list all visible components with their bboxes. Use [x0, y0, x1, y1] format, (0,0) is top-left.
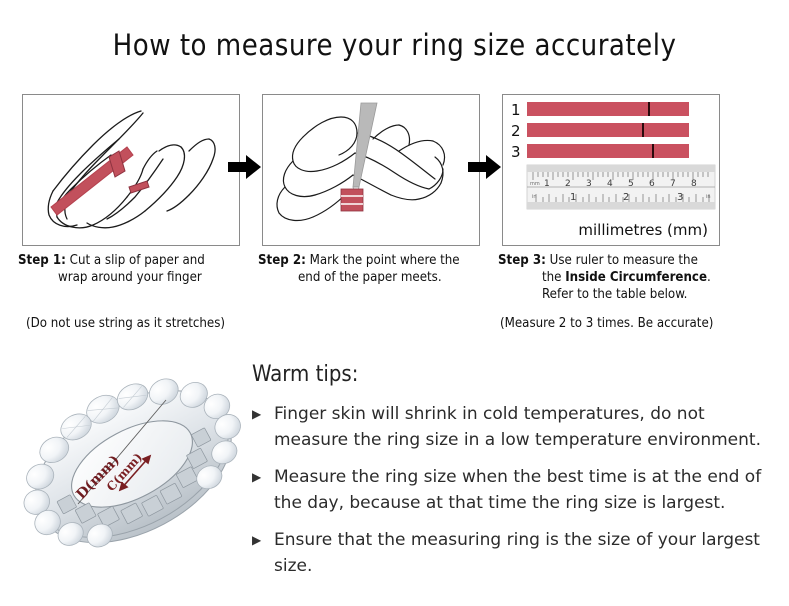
arrow-right-icon-1	[228, 154, 262, 180]
svg-text:3: 3	[586, 179, 592, 189]
step-3-label: Step 3:	[498, 253, 546, 268]
paper-strips-on-ruler-icon: 1 2 3	[503, 95, 719, 245]
warm-tip-item-3: ▶ Ensure that the measuring ring is the …	[252, 527, 772, 579]
ring-diagram: D(mm) C(mm)	[14, 352, 250, 577]
step-3-line-1: Use ruler to measure the	[550, 253, 698, 268]
svg-text:6: 6	[649, 179, 655, 189]
page-title: How to measure your ring size accurately	[0, 28, 789, 62]
svg-text:2: 2	[565, 179, 571, 189]
triangle-bullet-icon-2: ▶	[252, 464, 261, 490]
step-3-emphasis: Inside Circumference	[565, 270, 707, 285]
step-3-note: (Measure 2 to 3 times. Be accurate)	[500, 316, 713, 331]
svg-text:1: 1	[544, 179, 550, 189]
arrow-right-icon-2	[468, 154, 502, 180]
svg-text:8: 8	[691, 179, 697, 189]
svg-text:1: 1	[570, 192, 576, 203]
step-3-line-2-pre: the	[542, 270, 565, 285]
svg-text:4: 4	[607, 179, 613, 189]
ruler-graphic: 123 456 78 mm 123 in in	[527, 165, 715, 209]
strip-number-2: 2	[511, 122, 521, 140]
svg-text:7: 7	[670, 179, 676, 189]
svg-text:5: 5	[628, 179, 634, 189]
step-1-line-1: Cut a slip of paper and	[70, 253, 205, 268]
warm-tip-text-3: Ensure that the measuring ring is the si…	[274, 530, 760, 576]
step-3-caption: Step 3: Use ruler to measure the the Ins…	[498, 252, 748, 303]
svg-text:3: 3	[677, 192, 683, 203]
step-3-line-2: the Inside Circumference.	[498, 269, 748, 286]
step-1-line-2: wrap around your finger	[18, 269, 258, 286]
svg-text:mm: mm	[530, 181, 540, 187]
step-2-label: Step 2:	[258, 253, 306, 268]
step-2-illustration-panel	[262, 94, 480, 246]
step-3-line-3: Refer to the table below.	[498, 286, 748, 303]
triangle-bullet-icon-1: ▶	[252, 401, 261, 427]
step-2-caption: Step 2: Mark the point where the end of …	[258, 252, 498, 286]
svg-text:in: in	[706, 194, 711, 200]
hand-with-paper-strip-icon	[23, 95, 239, 245]
warm-tips-section: Warm tips: ▶ Finger skin will shrink in …	[252, 362, 772, 590]
hand-marking-paper-icon	[263, 95, 479, 245]
warm-tip-item-2: ▶ Measure the ring size when the best ti…	[252, 464, 772, 516]
ruler-unit-label: millimetres (mm)	[578, 221, 708, 239]
warm-tip-item-1: ▶ Finger skin will shrink in cold temper…	[252, 401, 772, 453]
strip-number-1: 1	[511, 101, 521, 119]
step-2-line-2: end of the paper meets.	[258, 269, 498, 286]
step-2-line-1: Mark the point where the	[310, 253, 460, 268]
step-1-label: Step 1:	[18, 253, 66, 268]
steps-illustration-row: 1 2 3	[0, 94, 789, 246]
step-1-note: (Do not use string as it stretches)	[26, 316, 225, 331]
triangle-bullet-icon-3: ▶	[252, 527, 261, 553]
warm-tip-text-1: Finger skin will shrink in cold temperat…	[274, 404, 761, 450]
step-3-illustration-panel: 1 2 3	[502, 94, 720, 246]
warm-tips-heading: Warm tips:	[252, 362, 772, 387]
warm-tip-text-2: Measure the ring size when the best time…	[274, 467, 761, 513]
eternity-ring-illustration-icon: D(mm) C(mm)	[14, 352, 250, 577]
step-1-caption: Step 1: Cut a slip of paper and wrap aro…	[18, 252, 258, 286]
step-1-illustration-panel	[22, 94, 240, 246]
strip-number-3: 3	[511, 143, 521, 161]
svg-text:2: 2	[623, 192, 629, 203]
step-3-line-2-post: .	[707, 270, 711, 285]
